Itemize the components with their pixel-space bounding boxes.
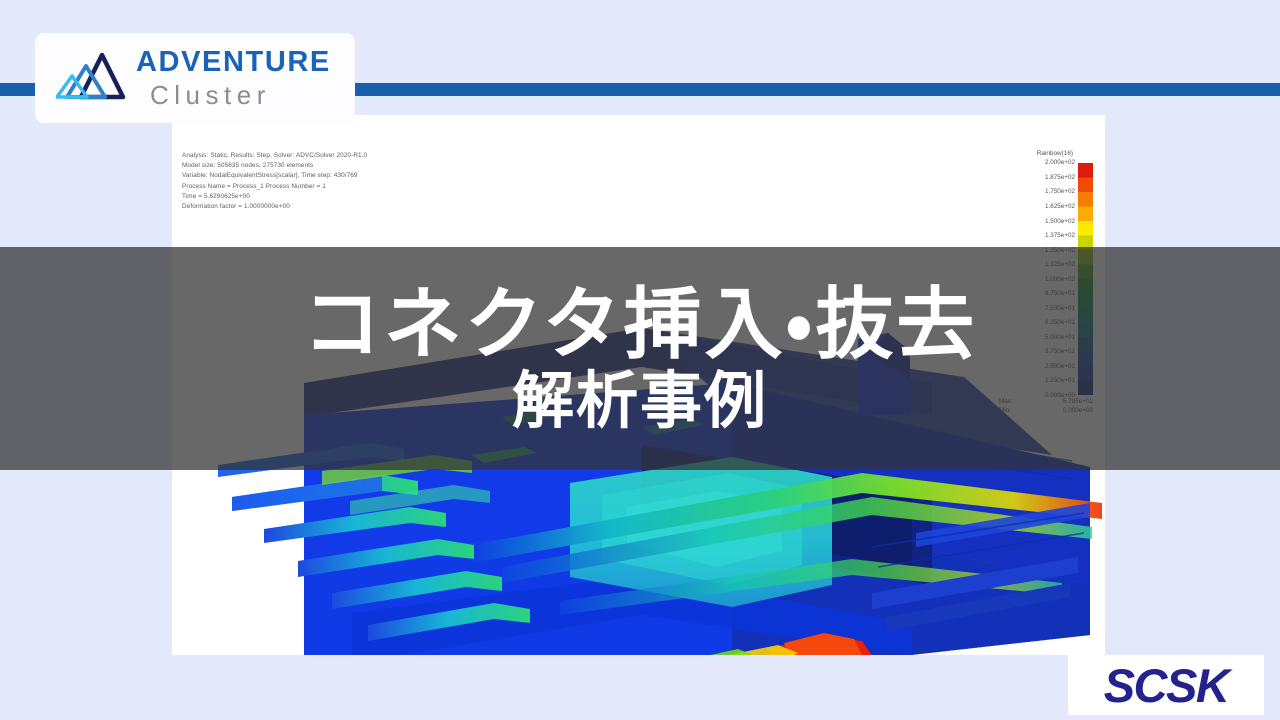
legend-tick: 1.375e+02 — [1015, 232, 1075, 240]
logo-wordmark: ADVENTURE Cluster — [136, 48, 331, 108]
analysis-info-line: Variable: NodalEquivalentStress[scalar],… — [182, 171, 367, 181]
logo-subtitle: Cluster — [150, 82, 331, 108]
analysis-info-line: Analysis: Static, Results: Step, Solver:… — [182, 151, 367, 161]
analysis-info-line: Time = 5.6290625e+00 — [182, 192, 367, 202]
page-subtitle: 解析事例 — [512, 370, 768, 432]
title-overlay-band: コネクタ挿入・抜去 解析事例 — [0, 247, 1280, 470]
legend-tick: 1.625e+02 — [1015, 203, 1075, 211]
scsk-logo: SCSK — [1068, 655, 1264, 715]
legend-tick: 1.500e+02 — [1015, 218, 1075, 226]
legend-tick: 1.750e+02 — [1015, 188, 1075, 196]
analysis-info-line: Deformation factor = 1.0000000e+00 — [182, 202, 367, 212]
page-title: コネクタ挿入・抜去 — [303, 286, 977, 364]
scsk-wordmark: SCSK — [1104, 658, 1229, 713]
mountain-logo-icon — [56, 52, 128, 104]
adventure-cluster-logo: ADVENTURE Cluster — [35, 33, 355, 123]
legend-title: Rainbow(16) — [999, 151, 1095, 157]
analysis-info-line: Model size: 505635 nodes, 275730 element… — [182, 161, 367, 171]
analysis-info-line: Process Name = Process_1 Process Number … — [182, 182, 367, 192]
legend-tick: 1.875e+02 — [1015, 174, 1075, 182]
analysis-info-text: Analysis: Static, Results: Step, Solver:… — [182, 151, 367, 212]
logo-title: ADVENTURE — [136, 48, 331, 77]
legend-tick: 2.000e+02 — [1015, 159, 1075, 167]
